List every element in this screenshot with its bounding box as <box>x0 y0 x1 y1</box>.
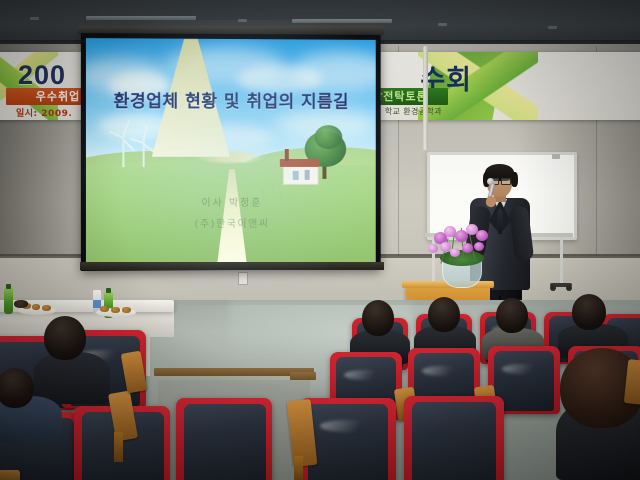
seat-highlight <box>344 370 386 380</box>
audience-shoulders <box>34 352 110 404</box>
orchid-bloom <box>476 230 488 241</box>
armrest-post <box>114 432 123 462</box>
presentation-slide: 환경업체 현황 및 취업의 지름길 이사 박정훈 (주)한국이앤씨 <box>86 38 376 264</box>
audience-head <box>362 300 394 336</box>
orchid-bloom <box>474 242 484 251</box>
slide-title: 환경업체 현황 및 취업의 지름길 <box>86 86 376 112</box>
photo-scene: 200 수회 우수취업 일시: 2009. 강전탁토론 학교 환경공학과 <box>0 0 640 480</box>
seat-cushion <box>412 402 496 480</box>
bottle-cap <box>106 288 111 293</box>
snack-item <box>111 307 120 313</box>
armrest-post <box>294 456 303 480</box>
seat-highlight <box>502 364 544 374</box>
aisle-step <box>290 372 316 380</box>
snack-item <box>32 304 40 310</box>
audience-head <box>428 297 460 332</box>
ceiling-fixture-dot <box>548 26 557 29</box>
audience-head <box>496 298 528 333</box>
house-window <box>305 170 310 180</box>
slide-subtitle-company: (주)한국이앤씨 <box>86 215 376 231</box>
house-chimney <box>285 149 289 161</box>
ceiling-light-fixture <box>86 16 196 20</box>
ceiling-fixture-dot <box>30 17 39 20</box>
slide-subtitle-presenter: 이사 박정훈 <box>86 194 376 210</box>
bottle-cap <box>6 284 11 289</box>
ceiling-fixture-dot <box>238 19 247 22</box>
snack-item <box>14 300 28 308</box>
snack-item <box>122 307 131 313</box>
ceiling-fixture-dot <box>438 23 447 26</box>
fence-post <box>273 185 274 194</box>
seat-cushion <box>184 404 266 480</box>
snack-item <box>100 306 109 312</box>
house-body <box>283 165 319 185</box>
orchid-bloom <box>428 244 438 253</box>
seat-armrest <box>0 470 20 480</box>
snack-item <box>42 305 51 311</box>
power-outlet-icon <box>238 272 248 285</box>
audience-head <box>44 316 86 360</box>
projection-screen-bottom-bar <box>80 262 384 270</box>
ceiling-light-fixture <box>292 19 392 23</box>
seat-cushion <box>308 404 388 480</box>
whiteboard-clip-icon <box>552 154 560 159</box>
green-bottle <box>4 288 13 314</box>
wall-pipe <box>423 46 428 150</box>
projection-screen: 환경업체 현황 및 취업의 지름길 이사 박정훈 (주)한국이앤씨 <box>81 33 381 271</box>
tree-crown-icon <box>315 125 343 149</box>
wind-turbine-blade-icon <box>123 139 135 151</box>
banner-department-text: 학교 환경공학과 <box>385 106 442 117</box>
audience-head <box>0 368 34 408</box>
microphone-icon <box>487 178 494 185</box>
banner-date-text: 일시: 2009. <box>16 106 72 119</box>
seat-highlight <box>422 366 464 376</box>
audience-head <box>572 294 606 330</box>
whiteboard-leg <box>560 237 563 285</box>
whiteboard-caster-icon <box>550 285 556 291</box>
eyeglass-lens <box>501 178 511 185</box>
banner-year-text: 200 <box>18 60 66 91</box>
seat-highlight <box>320 420 376 432</box>
whiteboard-caster-icon <box>566 285 572 291</box>
speaker-hair-side <box>511 172 518 187</box>
orchid-bloom <box>450 248 460 257</box>
orchid-bloom <box>462 243 473 253</box>
house-window <box>293 171 299 180</box>
